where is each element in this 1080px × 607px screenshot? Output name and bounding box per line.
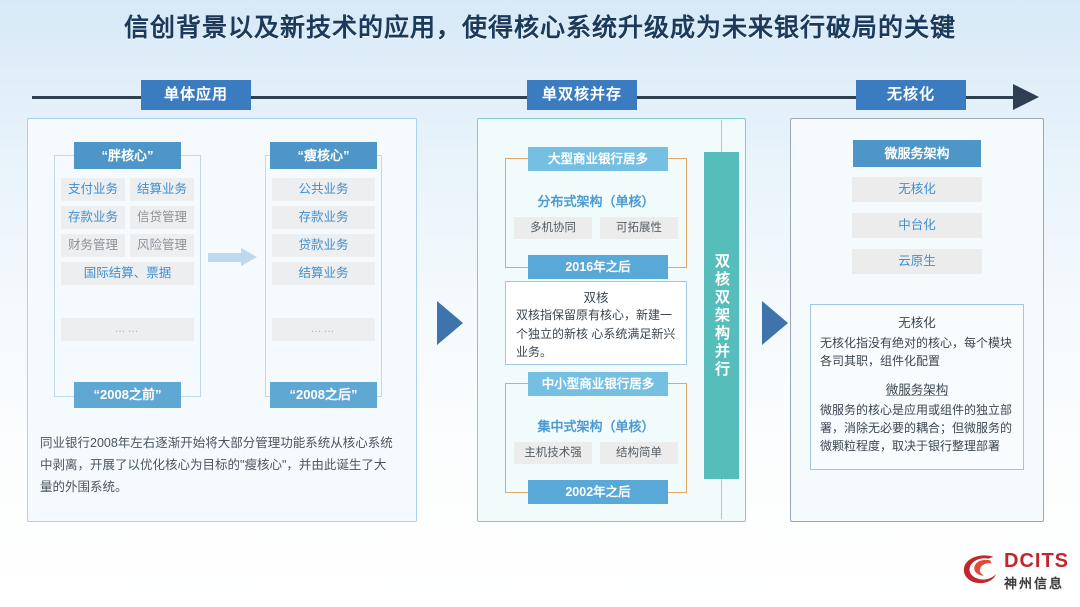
coreless-note-body-1: 无核化指没有绝对的核心，每个模块各司其职，组件化配置: [820, 334, 1014, 370]
coreless-note-title-2: 微服务架构: [811, 379, 1023, 398]
large-bank-tag-list: 多机协同 可拓展性: [514, 217, 678, 239]
chip-row: [272, 290, 375, 313]
thin-core-chip-list: 公共业务 存款业务 贷款业务 结算业务 ……: [272, 178, 375, 341]
chip-row: [61, 290, 194, 313]
large-bank-subtitle: 分布式架构（单核）: [506, 191, 686, 210]
tag-item: 可拓展性: [600, 217, 678, 239]
large-bank-header: 大型商业银行居多: [528, 147, 668, 171]
chip-spacer: [272, 290, 375, 313]
large-bank-footer: 2016年之后: [528, 255, 668, 279]
dual-core-note-body: 双核指保留原有核心，新建一个独立的新核 心系统满足新兴业务。: [516, 306, 678, 362]
stage-label-3[interactable]: 无核化: [856, 80, 966, 110]
chip-row: 国际结算、票据: [61, 262, 194, 285]
chip-item: 风险管理: [130, 234, 194, 257]
vertical-bar-tick-bottom: [721, 479, 722, 519]
chip-row: 贷款业务: [272, 234, 375, 257]
large-bank-block: 大型商业银行居多 分布式架构（单核） 多机协同 可拓展性 2016年之后: [505, 158, 687, 268]
chip-item: 中台化: [852, 213, 982, 238]
tag-item: 多机协同: [514, 217, 592, 239]
chip-item: 结算业务: [130, 178, 194, 201]
tag-item: 主机技术强: [514, 442, 592, 464]
vertical-dual-architecture-bar: 双核双架构并行: [704, 152, 739, 479]
small-bank-footer: 2002年之后: [528, 480, 668, 504]
vertical-bar-tick-top: [721, 120, 722, 152]
chip-item-wide: 国际结算、票据: [61, 262, 194, 285]
chip-item: 公共业务: [272, 178, 375, 201]
chip-row: ……: [272, 318, 375, 341]
panel1-caption: 同业银行2008年左右逐渐开始将大部分管理功能系统从核心系统中剥离，开展了以优化…: [40, 433, 395, 499]
chip-row: 财务管理 风险管理: [61, 234, 194, 257]
chip-item: 存款业务: [61, 206, 125, 229]
coreless-note-title-1: 无核化: [811, 312, 1023, 331]
stage-label-2[interactable]: 单双核并存: [527, 80, 637, 110]
page-title: 信创背景以及新技术的应用，使得核心系统升级成为未来银行破局的关键: [0, 8, 1080, 44]
chip-item: 结算业务: [272, 262, 375, 285]
chip-item: 信贷管理: [130, 206, 194, 229]
chip-item: 贷款业务: [272, 234, 375, 257]
thin-core-header: “瘦核心”: [270, 142, 377, 169]
dcits-swirl-icon: [962, 552, 1000, 586]
vertical-bar-label: 双核双架构并行: [704, 152, 739, 479]
chip-item: 财务管理: [61, 234, 125, 257]
panel-arrow-1-icon: [437, 301, 463, 345]
company-logo: DCITS 神州信息: [962, 548, 1074, 594]
timeline-arrow-icon: [1013, 84, 1039, 110]
microservice-header: 微服务架构: [853, 140, 981, 167]
chip-row: 结算业务: [272, 262, 375, 285]
thin-core-footer: “2008之后”: [270, 382, 377, 408]
chip-item: 无核化: [852, 177, 982, 202]
chip-item: 支付业务: [61, 178, 125, 201]
small-bank-tag-list: 主机技术强 结构简单: [514, 442, 678, 464]
chip-row: 存款业务 信贷管理: [61, 206, 194, 229]
logo-brand-text: DCITS: [1004, 550, 1069, 573]
coreless-note: 无核化 无核化指没有绝对的核心，每个模块各司其职，组件化配置 微服务架构 微服务…: [810, 304, 1024, 470]
chip-row: 支付业务 结算业务: [61, 178, 194, 201]
chip-ellipsis: ……: [272, 318, 375, 341]
stage-label-1[interactable]: 单体应用: [141, 80, 251, 110]
tag-item: 结构简单: [600, 442, 678, 464]
fat-core-column: “胖核心” 支付业务 结算业务 存款业务 信贷管理 财务管理 风险管理 国际结算…: [54, 155, 201, 397]
chip-row: 存款业务: [272, 206, 375, 229]
panel-arrow-2-icon: [762, 301, 788, 345]
fat-core-footer: “2008之前”: [74, 382, 181, 408]
small-bank-block: 中小型商业银行居多 集中式架构（单核） 主机技术强 结构简单 2002年之后: [505, 383, 687, 493]
chip-row: ……: [61, 318, 194, 341]
fat-core-chip-list: 支付业务 结算业务 存款业务 信贷管理 财务管理 风险管理 国际结算、票据 ……: [61, 178, 194, 341]
chip-spacer: [61, 290, 194, 313]
microservice-chip-list: 无核化 中台化 云原生: [852, 177, 982, 274]
slide-root: 信创背景以及新技术的应用，使得核心系统升级成为未来银行破局的关键 单体应用 单双…: [0, 0, 1080, 607]
chip-item: 存款业务: [272, 206, 375, 229]
timeline: 单体应用 单双核并存 无核化: [32, 95, 1042, 99]
chip-row: 公共业务: [272, 178, 375, 201]
small-bank-subtitle: 集中式架构（单核）: [506, 416, 686, 435]
dual-core-note: 双核 双核指保留原有核心，新建一个独立的新核 心系统满足新兴业务。: [505, 281, 687, 365]
fat-core-header: “胖核心”: [74, 142, 181, 169]
transition-arrow-icon: [208, 248, 258, 266]
logo-brand-text-cn: 神州信息: [1004, 573, 1064, 592]
chip-ellipsis: ……: [61, 318, 194, 341]
small-bank-header: 中小型商业银行居多: [528, 372, 668, 396]
thin-core-column: “瘦核心” 公共业务 存款业务 贷款业务 结算业务 …… “2008之后”: [265, 155, 382, 397]
coreless-note-body-2: 微服务的核心是应用或组件的独立部署，消除无必要的耦合；但微服务的微颗粒程度，取决…: [820, 401, 1014, 455]
chip-item: 云原生: [852, 249, 982, 274]
dual-core-note-title: 双核: [506, 287, 686, 306]
